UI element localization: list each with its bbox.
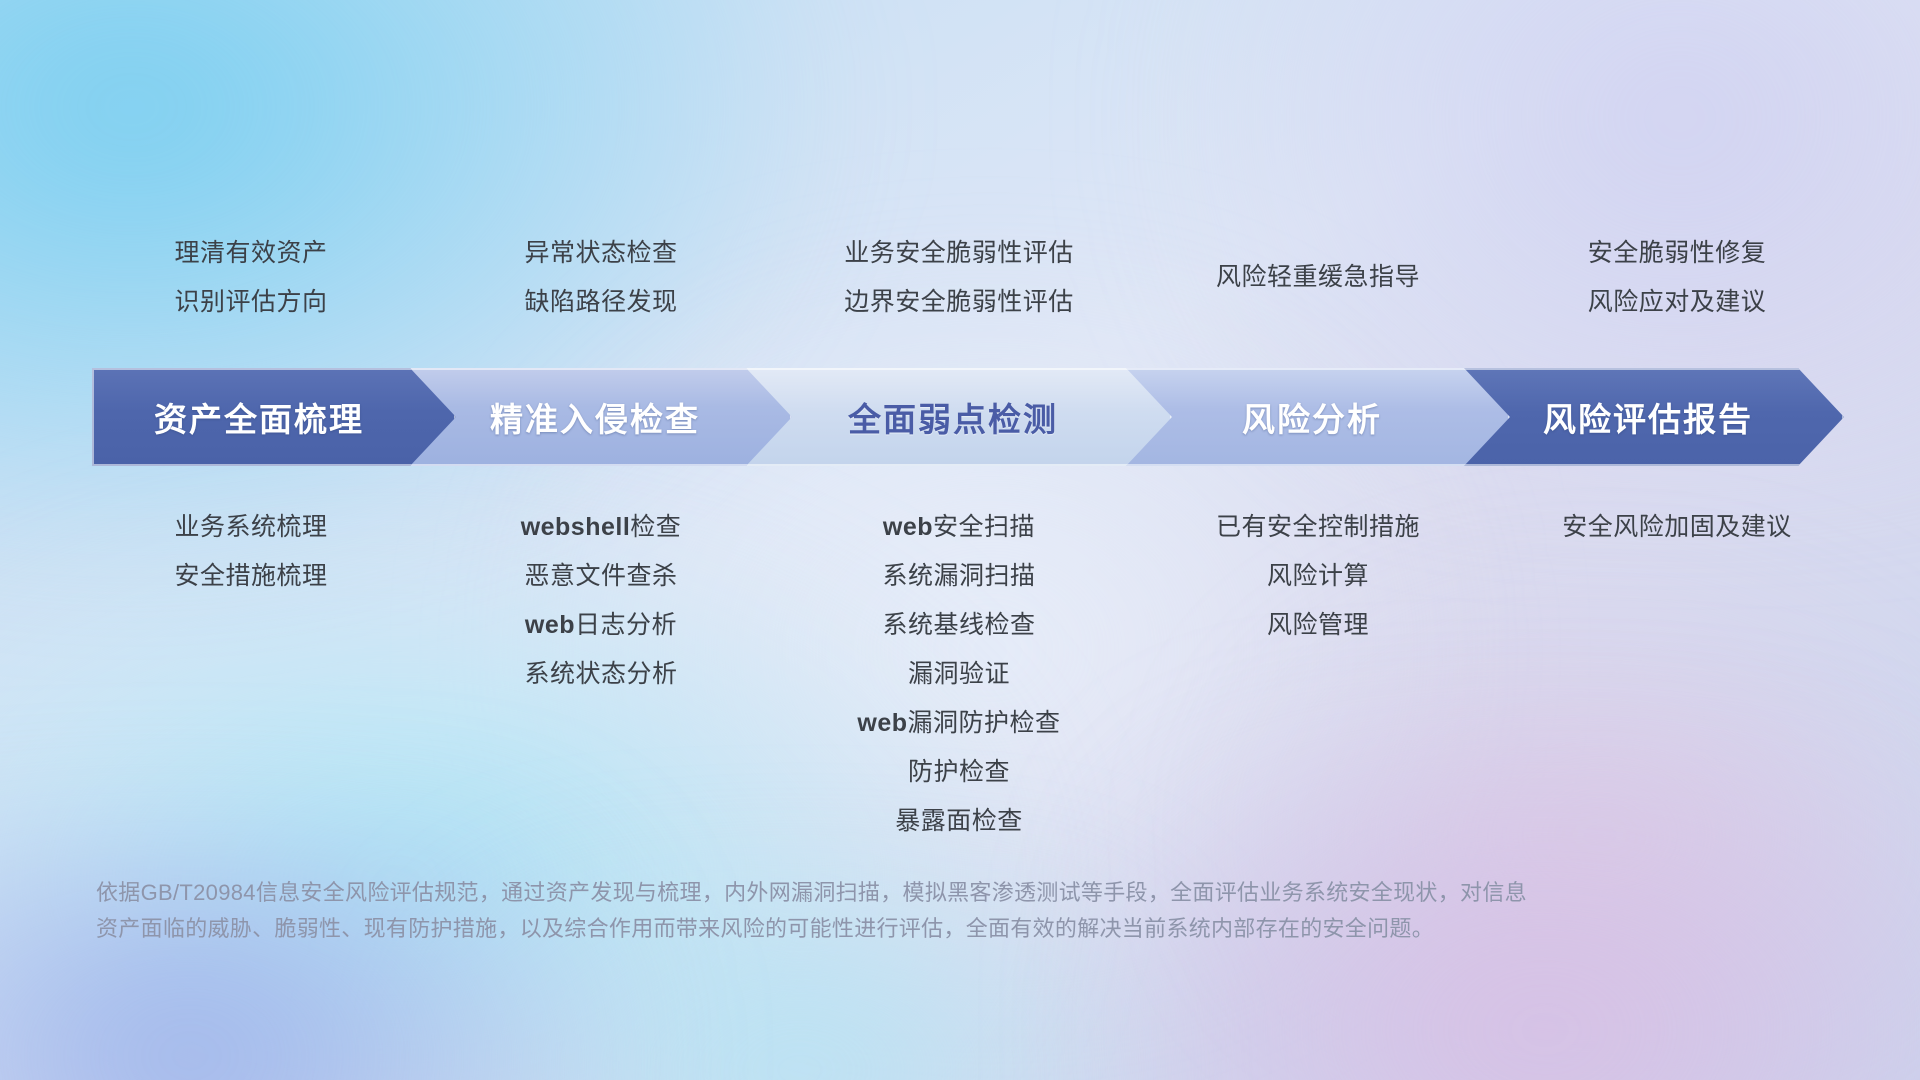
task-item-text: 系统漏洞扫描 [882,562,1035,590]
task-item-text: 安全扫描 [933,513,1035,541]
footer-description: 依据GB/T20984信息安全风险评估规范，通过资产发现与梳理，内外网漏洞扫描，… [96,875,1836,947]
task-item-text: 风险管理 [1267,611,1369,639]
stage-label-asset-inventory: 资产全面梳理 [154,393,364,441]
task-item: 防护检查 [699,748,1219,797]
stage-label-weakness-detection: 全面弱点检测 [848,393,1058,441]
task-item-prefix: web [525,611,575,639]
task-item: 漏洞验证 [699,650,1219,699]
task-item: web漏洞防护检查 [699,699,1219,748]
stage-label-risk-analysis: 风险分析 [1242,393,1382,441]
process-diagram: 理清有效资产识别评估方向异常状态检查缺陷路径发现业务安全脆弱性评估边界安全脆弱性… [0,0,1920,1080]
task-item-prefix: web [883,513,933,541]
task-item: 风险计算 [1058,552,1578,601]
stage-banner: 资产全面梳理精准入侵检查全面弱点检测风险分析风险评估报告 [92,368,1844,466]
task-item-text: 已有安全控制措施 [1216,513,1420,541]
outcome-column-risk-report: 安全脆弱性修复风险应对及建议 [1417,229,1920,327]
task-item: 风险管理 [1058,601,1578,650]
task-item-text: 防护检查 [908,758,1010,786]
task-item-text: 系统基线检查 [882,611,1035,639]
task-column-risk-report: 安全风险加固及建议 [1417,503,1920,552]
footer-line-1: 依据GB/T20984信息安全风险评估规范，通过资产发现与梳理，内外网漏洞扫描，… [96,875,1836,911]
task-item-text: 日志分析 [575,611,677,639]
task-item-text: 业务系统梳理 [174,513,327,541]
task-item-text: 恶意文件查杀 [524,562,677,590]
task-item-text: 安全措施梳理 [174,562,327,590]
task-item-text: 漏洞验证 [908,660,1010,688]
outcome-item: 安全脆弱性修复 [1417,229,1920,278]
task-item-prefix: web [857,709,907,737]
task-item-text: 检查 [630,513,681,541]
task-item-prefix: webshell [521,513,631,541]
task-item: 安全风险加固及建议 [1417,503,1920,552]
outcome-item: 风险应对及建议 [1417,278,1920,327]
footer-line-2: 资产面临的威胁、脆弱性、现有防护措施，以及综合作用而带来风险的可能性进行评估，全… [96,911,1836,947]
task-item-text: 风险计算 [1267,562,1369,590]
stage-chevron-asset-inventory[interactable]: 资产全面梳理 [92,368,456,466]
stage-label-risk-report: 风险评估报告 [1543,393,1753,441]
task-item: 暴露面检查 [699,797,1219,846]
task-item-text: 漏洞防护检查 [908,709,1061,737]
task-item-text: 安全风险加固及建议 [1562,513,1792,541]
task-item-text: 暴露面检查 [895,807,1023,835]
stage-label-intrusion-check: 精准入侵检查 [490,393,700,441]
task-item-text: 系统状态分析 [524,660,677,688]
